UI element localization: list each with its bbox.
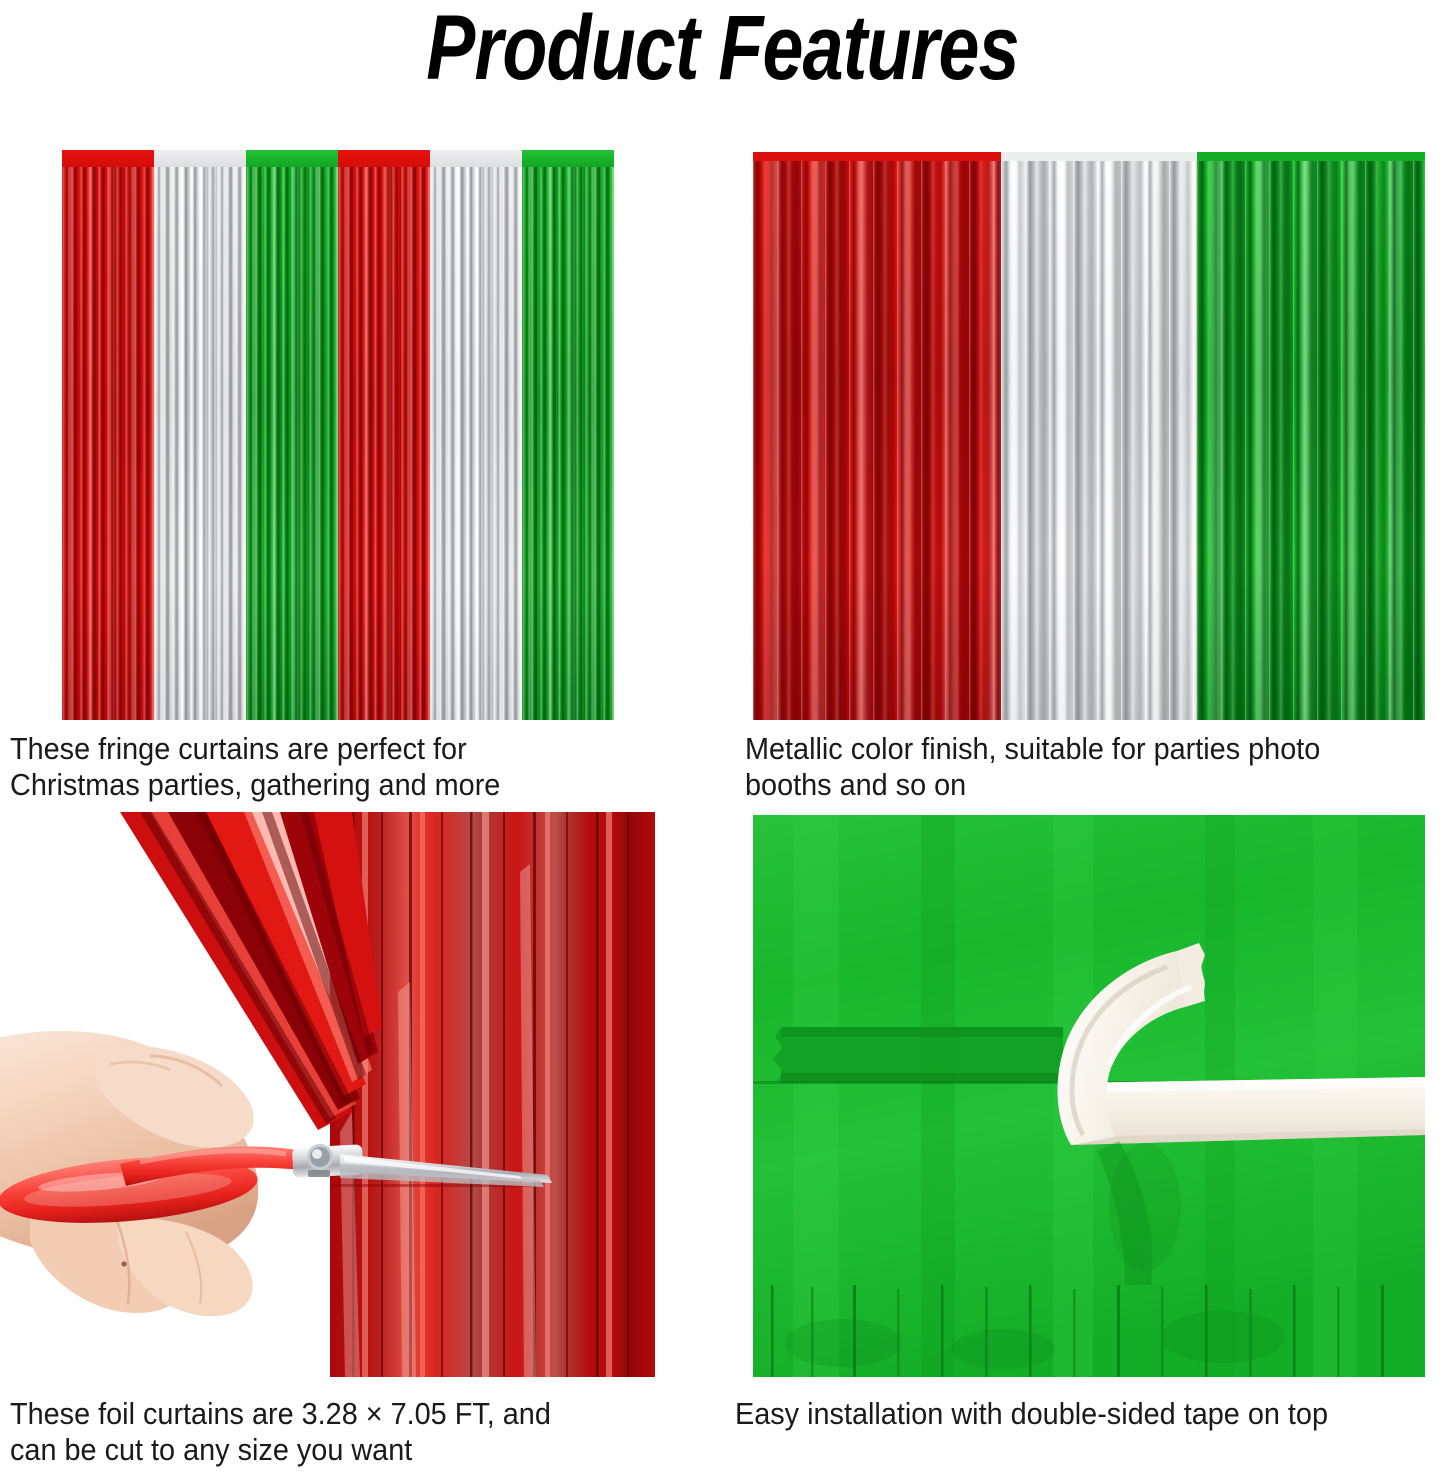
closeup-band-green xyxy=(1197,152,1425,720)
closeup-band-red xyxy=(753,152,1001,720)
curtain-strip-red-1 xyxy=(62,150,154,720)
double-sided-tape-on-green-foil-photo xyxy=(753,815,1425,1377)
curtain-strip-silver-2 xyxy=(430,150,522,720)
scissors-scene-graphic xyxy=(0,812,655,1377)
cutting-curtain-with-scissors-photo xyxy=(0,812,655,1377)
fringe-curtain-panels-photo xyxy=(62,150,614,720)
feature-caption-2: Metallic color finish, suitable for part… xyxy=(745,731,1415,803)
metallic-finish-closeup-photo xyxy=(753,152,1425,720)
curtain-strip-green-1 xyxy=(246,150,338,720)
feature-caption-4: Easy installation with double-sided tape… xyxy=(735,1396,1414,1432)
feature-caption-1: These fringe curtains are perfect for Ch… xyxy=(10,731,661,803)
closeup-band-silver xyxy=(1001,152,1197,720)
feature-caption-3: These foil curtains are 3.28 × 7.05 FT, … xyxy=(10,1396,661,1468)
tape-scene-graphic xyxy=(753,815,1425,1377)
curtain-strip-green-2 xyxy=(522,150,614,720)
curtain-strip-red-2 xyxy=(338,150,430,720)
curtain-strip-silver-1 xyxy=(154,150,246,720)
page-title: Product Features xyxy=(145,2,1301,94)
